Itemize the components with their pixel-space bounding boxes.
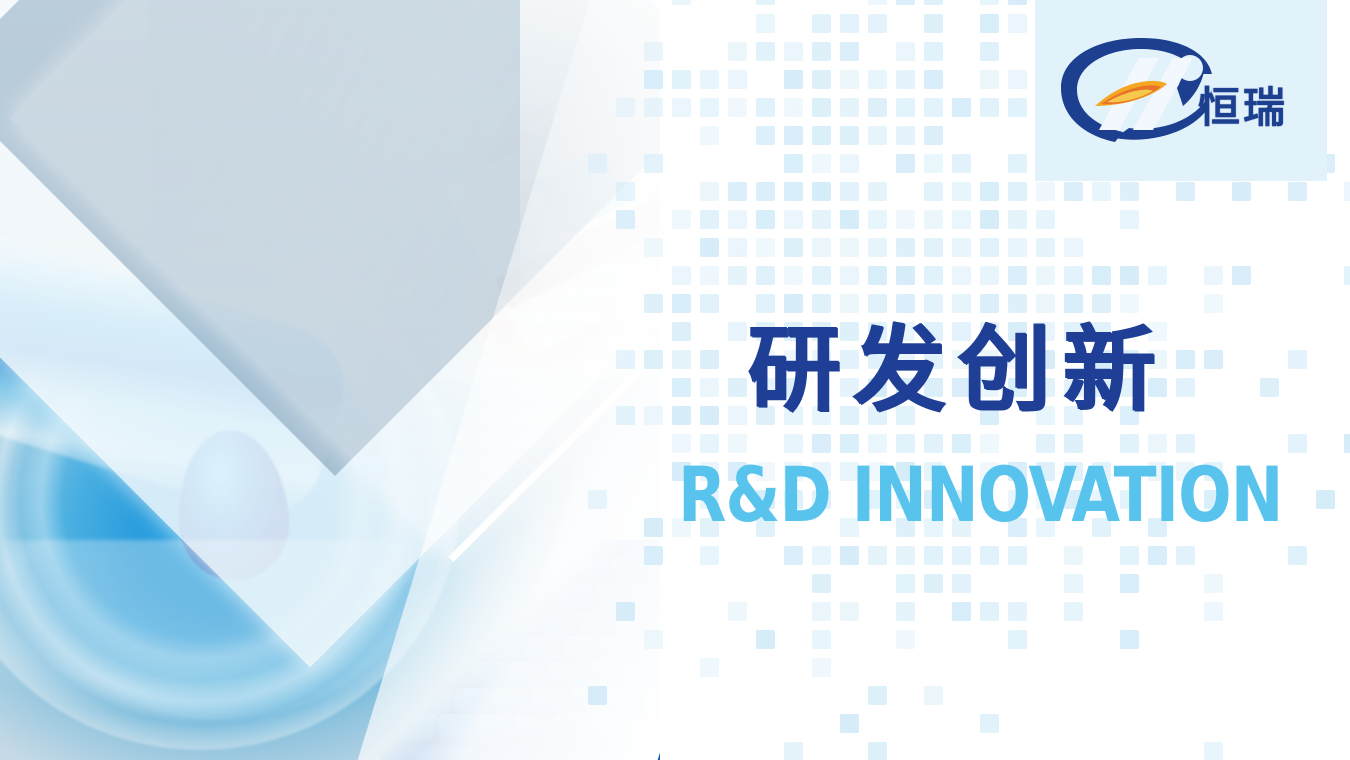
pattern-tile bbox=[700, 126, 719, 145]
pattern-tile bbox=[644, 630, 663, 649]
pattern-tile bbox=[784, 210, 803, 229]
pattern-tile bbox=[756, 126, 775, 145]
pattern-tile bbox=[616, 98, 635, 117]
pattern-tile bbox=[924, 266, 943, 285]
pattern-tile bbox=[896, 574, 915, 593]
pattern-tile bbox=[840, 154, 859, 173]
pattern-tile bbox=[700, 406, 719, 425]
pattern-tile bbox=[980, 294, 999, 313]
pattern-tile bbox=[784, 294, 803, 313]
pattern-tile bbox=[812, 238, 831, 257]
pattern-tile bbox=[924, 126, 943, 145]
pattern-tile bbox=[896, 126, 915, 145]
pattern-tile bbox=[1204, 266, 1223, 285]
pattern-tile bbox=[644, 546, 663, 565]
pattern-tile bbox=[700, 294, 719, 313]
pattern-tile bbox=[840, 238, 859, 257]
pattern-tile bbox=[728, 70, 747, 89]
pattern-tile bbox=[868, 126, 887, 145]
pattern-tile bbox=[784, 70, 803, 89]
pattern-tile bbox=[1092, 182, 1111, 201]
pattern-tile bbox=[840, 266, 859, 285]
pattern-tile bbox=[1092, 294, 1111, 313]
pattern-tile bbox=[840, 70, 859, 89]
pattern-tile bbox=[840, 182, 859, 201]
pattern-tile bbox=[896, 42, 915, 61]
pattern-tile bbox=[700, 378, 719, 397]
pattern-tile bbox=[896, 0, 915, 5]
pattern-tile bbox=[980, 14, 999, 33]
pattern-tile bbox=[868, 546, 887, 565]
pattern-tile bbox=[700, 210, 719, 229]
pattern-tile bbox=[1008, 14, 1027, 33]
pattern-tile bbox=[1008, 98, 1027, 117]
pattern-tile bbox=[924, 686, 943, 705]
pattern-tile bbox=[784, 182, 803, 201]
pattern-tile bbox=[588, 154, 607, 173]
pattern-tile bbox=[868, 210, 887, 229]
pattern-tile bbox=[1036, 182, 1055, 201]
pattern-tile bbox=[896, 238, 915, 257]
pattern-tile bbox=[812, 602, 831, 621]
pattern-tile bbox=[1176, 182, 1195, 201]
pattern-tile bbox=[1036, 266, 1055, 285]
pattern-tile bbox=[728, 182, 747, 201]
pattern-tile bbox=[1232, 182, 1251, 201]
pattern-tile bbox=[644, 518, 663, 537]
pattern-tile bbox=[868, 266, 887, 285]
pattern-tile bbox=[840, 14, 859, 33]
pattern-tile bbox=[812, 98, 831, 117]
pattern-tile bbox=[1120, 574, 1139, 593]
pattern-tile bbox=[784, 154, 803, 173]
pattern-tile bbox=[1120, 294, 1139, 313]
pattern-tile bbox=[980, 70, 999, 89]
pattern-tile bbox=[756, 266, 775, 285]
pattern-tile bbox=[728, 378, 747, 397]
pattern-tile bbox=[868, 742, 887, 760]
pattern-tile bbox=[1064, 294, 1083, 313]
pattern-tile bbox=[1008, 182, 1027, 201]
pattern-tile bbox=[756, 42, 775, 61]
pattern-tile bbox=[644, 70, 663, 89]
pattern-tile bbox=[672, 350, 691, 369]
pattern-tile bbox=[896, 266, 915, 285]
pattern-tile bbox=[644, 294, 663, 313]
pattern-tile bbox=[1204, 294, 1223, 313]
pattern-tile bbox=[728, 322, 747, 341]
pattern-tile bbox=[756, 0, 775, 5]
pattern-tile bbox=[616, 210, 635, 229]
pattern-tile bbox=[868, 686, 887, 705]
pattern-tile bbox=[924, 98, 943, 117]
pattern-tile bbox=[756, 98, 775, 117]
pattern-tile bbox=[840, 42, 859, 61]
pattern-tile bbox=[924, 70, 943, 89]
pattern-tile bbox=[756, 630, 775, 649]
pattern-tile bbox=[812, 182, 831, 201]
pattern-tile bbox=[672, 70, 691, 89]
pattern-tile bbox=[896, 602, 915, 621]
pattern-tile bbox=[644, 42, 663, 61]
pattern-tile bbox=[700, 70, 719, 89]
pattern-tile bbox=[868, 182, 887, 201]
pattern-tile bbox=[672, 0, 691, 5]
pattern-tile bbox=[812, 42, 831, 61]
pattern-tile bbox=[672, 210, 691, 229]
pattern-tile bbox=[812, 126, 831, 145]
pattern-tile bbox=[980, 602, 999, 621]
pattern-tile bbox=[1008, 266, 1027, 285]
brand-logo: 恒瑞 bbox=[1055, 28, 1307, 153]
pattern-tile bbox=[784, 238, 803, 257]
pattern-tile bbox=[588, 490, 607, 509]
pattern-tile bbox=[672, 406, 691, 425]
pattern-tile bbox=[840, 714, 859, 733]
pattern-tile bbox=[644, 238, 663, 257]
pattern-tile bbox=[952, 294, 971, 313]
pattern-tile bbox=[1120, 630, 1139, 649]
pattern-tile bbox=[1008, 294, 1027, 313]
pattern-tile bbox=[784, 42, 803, 61]
pattern-tile bbox=[840, 546, 859, 565]
pattern-tile bbox=[924, 182, 943, 201]
pattern-tile bbox=[952, 238, 971, 257]
pattern-tile bbox=[812, 546, 831, 565]
pattern-tile bbox=[784, 126, 803, 145]
pattern-tile bbox=[1008, 154, 1027, 173]
pattern-tile bbox=[700, 350, 719, 369]
pattern-tile bbox=[980, 42, 999, 61]
pattern-tile bbox=[952, 98, 971, 117]
brand-name-cn: 恒瑞 bbox=[1198, 74, 1288, 135]
pattern-tile bbox=[784, 742, 803, 760]
pattern-tile bbox=[812, 70, 831, 89]
pattern-tile bbox=[644, 406, 663, 425]
pattern-tile bbox=[896, 98, 915, 117]
pattern-tile bbox=[868, 98, 887, 117]
pattern-tile bbox=[616, 406, 635, 425]
pattern-tile bbox=[616, 602, 635, 621]
pattern-tile bbox=[868, 238, 887, 257]
pattern-tile bbox=[672, 378, 691, 397]
pattern-tile bbox=[728, 42, 747, 61]
pattern-tile bbox=[700, 546, 719, 565]
pattern-tile bbox=[896, 546, 915, 565]
pattern-tile bbox=[1036, 238, 1055, 257]
pattern-tile bbox=[1316, 490, 1335, 509]
rd-innovation-banner: 研发创新 R&D INNOVATION 恒瑞 bbox=[0, 0, 1350, 760]
pattern-tile bbox=[952, 154, 971, 173]
pattern-tile bbox=[784, 98, 803, 117]
pattern-tile bbox=[700, 182, 719, 201]
pattern-tile bbox=[756, 182, 775, 201]
hengrui-swoosh-icon bbox=[1055, 34, 1215, 146]
pattern-tile bbox=[1148, 266, 1167, 285]
pattern-tile bbox=[1288, 546, 1307, 565]
pattern-tile bbox=[1008, 630, 1027, 649]
pattern-tile bbox=[1064, 266, 1083, 285]
pattern-tile bbox=[952, 546, 971, 565]
pattern-tile bbox=[1232, 266, 1251, 285]
pattern-tile bbox=[1120, 266, 1139, 285]
pattern-tile bbox=[812, 210, 831, 229]
pattern-tile bbox=[644, 154, 663, 173]
pattern-tile bbox=[980, 714, 999, 733]
pattern-tile bbox=[812, 658, 831, 677]
pattern-tile bbox=[896, 294, 915, 313]
pattern-tile bbox=[1288, 182, 1307, 201]
pattern-tile bbox=[980, 182, 999, 201]
pattern-tile bbox=[1176, 546, 1195, 565]
pattern-tile bbox=[1204, 742, 1223, 760]
pattern-tile bbox=[700, 238, 719, 257]
pattern-tile bbox=[924, 154, 943, 173]
pattern-tile bbox=[1064, 182, 1083, 201]
pattern-tile bbox=[952, 602, 971, 621]
pattern-tile bbox=[1092, 266, 1111, 285]
headline-block: 研发创新 R&D INNOVATION bbox=[748, 322, 1348, 420]
pattern-tile bbox=[952, 574, 971, 593]
page-title-cn: 研发创新 bbox=[748, 322, 1348, 420]
pattern-tile bbox=[896, 210, 915, 229]
pattern-tile bbox=[700, 266, 719, 285]
pattern-tile bbox=[1064, 238, 1083, 257]
pattern-tile bbox=[1120, 182, 1139, 201]
pattern-tile bbox=[924, 238, 943, 257]
pattern-tile bbox=[1008, 238, 1027, 257]
pattern-tile bbox=[1008, 210, 1027, 229]
pattern-tile bbox=[924, 294, 943, 313]
pattern-tile bbox=[980, 238, 999, 257]
pattern-tile bbox=[1064, 546, 1083, 565]
pattern-tile bbox=[812, 630, 831, 649]
pattern-tile bbox=[812, 574, 831, 593]
pattern-tile bbox=[1148, 546, 1167, 565]
pattern-tile bbox=[980, 0, 999, 5]
pattern-tile bbox=[1008, 602, 1027, 621]
pattern-tile bbox=[840, 602, 859, 621]
pattern-tile bbox=[784, 266, 803, 285]
pattern-tile bbox=[1204, 574, 1223, 593]
pattern-tile bbox=[728, 602, 747, 621]
pattern-tile bbox=[1008, 0, 1027, 5]
pattern-tile bbox=[868, 0, 887, 5]
pattern-tile bbox=[896, 630, 915, 649]
pattern-tile bbox=[700, 658, 719, 677]
pattern-tile bbox=[812, 266, 831, 285]
pattern-tile bbox=[924, 42, 943, 61]
pattern-tile bbox=[812, 154, 831, 173]
pattern-tile bbox=[672, 98, 691, 117]
pattern-tile bbox=[980, 546, 999, 565]
pattern-tile bbox=[616, 350, 635, 369]
pattern-tile bbox=[1120, 546, 1139, 565]
pattern-tile bbox=[1064, 574, 1083, 593]
pattern-tile bbox=[1036, 294, 1055, 313]
pattern-tile bbox=[756, 294, 775, 313]
pattern-tile bbox=[1064, 602, 1083, 621]
pattern-tile bbox=[952, 266, 971, 285]
pattern-tile bbox=[868, 14, 887, 33]
pattern-tile bbox=[728, 238, 747, 257]
pattern-tile bbox=[924, 546, 943, 565]
pattern-tile bbox=[672, 322, 691, 341]
pattern-tile bbox=[896, 154, 915, 173]
pattern-tile bbox=[756, 238, 775, 257]
pattern-tile bbox=[728, 406, 747, 425]
brand-logo-plate: 恒瑞 bbox=[1035, 0, 1327, 181]
pattern-tile bbox=[1344, 434, 1350, 453]
pattern-tile bbox=[1036, 210, 1055, 229]
pattern-tile bbox=[868, 70, 887, 89]
pattern-tile bbox=[980, 98, 999, 117]
pattern-tile bbox=[1288, 434, 1307, 453]
pattern-tile bbox=[1008, 546, 1027, 565]
pattern-tile bbox=[812, 14, 831, 33]
pattern-tile bbox=[952, 182, 971, 201]
pattern-tile bbox=[1344, 182, 1350, 201]
pattern-tile bbox=[644, 98, 663, 117]
pattern-tile bbox=[756, 210, 775, 229]
pattern-tile bbox=[672, 294, 691, 313]
pattern-tile bbox=[1344, 266, 1350, 285]
pattern-tile bbox=[672, 266, 691, 285]
pattern-tile bbox=[868, 294, 887, 313]
pattern-tile bbox=[728, 210, 747, 229]
pattern-tile bbox=[700, 98, 719, 117]
pattern-tile bbox=[784, 546, 803, 565]
page-title-en: R&D INNOVATION bbox=[678, 450, 1282, 539]
pattern-tile bbox=[728, 98, 747, 117]
pattern-tile bbox=[896, 70, 915, 89]
pattern-tile bbox=[924, 210, 943, 229]
pattern-tile bbox=[588, 686, 607, 705]
pattern-tile bbox=[840, 294, 859, 313]
pattern-tile bbox=[840, 126, 859, 145]
pattern-tile bbox=[952, 210, 971, 229]
pattern-tile bbox=[980, 266, 999, 285]
pattern-tile bbox=[1120, 210, 1139, 229]
pattern-tile bbox=[924, 0, 943, 5]
pattern-tile bbox=[924, 14, 943, 33]
pattern-tile bbox=[840, 210, 859, 229]
pattern-tile bbox=[812, 294, 831, 313]
pattern-tile bbox=[924, 574, 943, 593]
pattern-tile bbox=[644, 350, 663, 369]
pattern-tile bbox=[1008, 70, 1027, 89]
pattern-tile bbox=[728, 266, 747, 285]
pattern-tile bbox=[756, 14, 775, 33]
pattern-tile bbox=[840, 98, 859, 117]
pattern-tile bbox=[616, 182, 635, 201]
pattern-tile bbox=[980, 210, 999, 229]
pattern-tile bbox=[1204, 602, 1223, 621]
